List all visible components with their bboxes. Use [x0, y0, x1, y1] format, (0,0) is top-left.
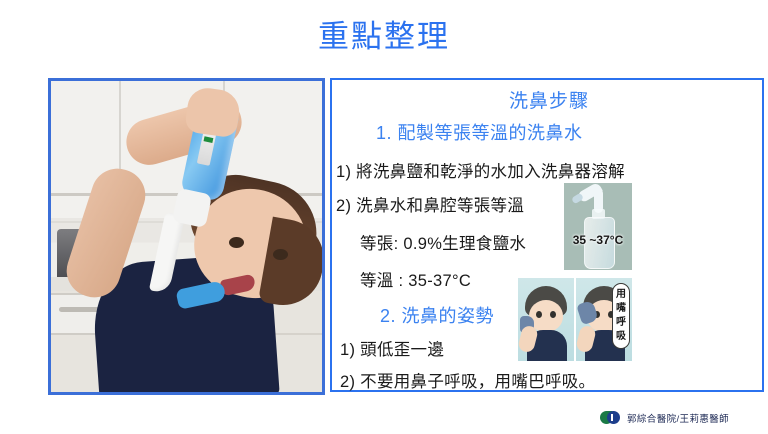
cartoon-eye	[536, 311, 542, 318]
footer-credit: 郭綜合醫院/王莉惠醫師	[600, 410, 729, 425]
section-1-item-2: 2) 洗鼻水和鼻腔等張等溫	[336, 192, 524, 216]
cartoon-boy-breathing-through-mouth: 用 嘴 呼 吸	[576, 278, 632, 361]
cartoon-boy-head-tilted	[518, 278, 574, 361]
speech-char: 用	[616, 288, 626, 302]
page-title: 重點整理	[0, 18, 768, 56]
nasal-irrigator-bottle-illustration: 35 ~37°C	[564, 183, 632, 270]
hospital-logo-icon	[600, 410, 621, 425]
speech-char: 呼	[616, 316, 626, 330]
footer-credit-text: 郭綜合醫院/王莉惠醫師	[627, 411, 729, 425]
section-2-item-2: 2) 不要用鼻子呼吸，用嘴巴呼吸。	[340, 368, 595, 392]
boy-eye	[273, 249, 288, 260]
section-1-item-2-detail-isotonic: 等張: 0.9%生理食鹽水	[360, 230, 526, 254]
steps-panel: 洗鼻步驟 1. 配製等張等溫的洗鼻水 1) 將洗鼻鹽和乾淨的水加入洗鼻器溶解 2…	[330, 78, 764, 392]
section-2-heading: 2. 洗鼻的姿勢	[380, 302, 494, 328]
boy-eye	[229, 237, 244, 248]
section-1-item-2-detail-temperature: 等溫 : 35-37°C	[360, 267, 471, 291]
speech-char: 吸	[616, 330, 626, 344]
section-1-heading: 1. 配製等張等溫的洗鼻水	[376, 119, 583, 145]
cartoon-eye	[550, 311, 556, 318]
speech-char: 嘴	[616, 302, 626, 316]
bottle-neck	[172, 188, 212, 228]
section-1-item-1: 1) 將洗鼻鹽和乾淨的水加入洗鼻器溶解	[336, 158, 625, 182]
logo-circle-shape	[607, 411, 620, 424]
speech-bubble: 用 嘴 呼 吸	[612, 283, 630, 349]
temperature-label: 35 ~37°C	[566, 233, 630, 247]
steps-panel-heading: 洗鼻步驟	[332, 86, 766, 113]
section-2-item-1: 1) 頭低歪一邊	[340, 336, 444, 360]
boy-using-nasal-irrigator-photo	[48, 78, 325, 395]
